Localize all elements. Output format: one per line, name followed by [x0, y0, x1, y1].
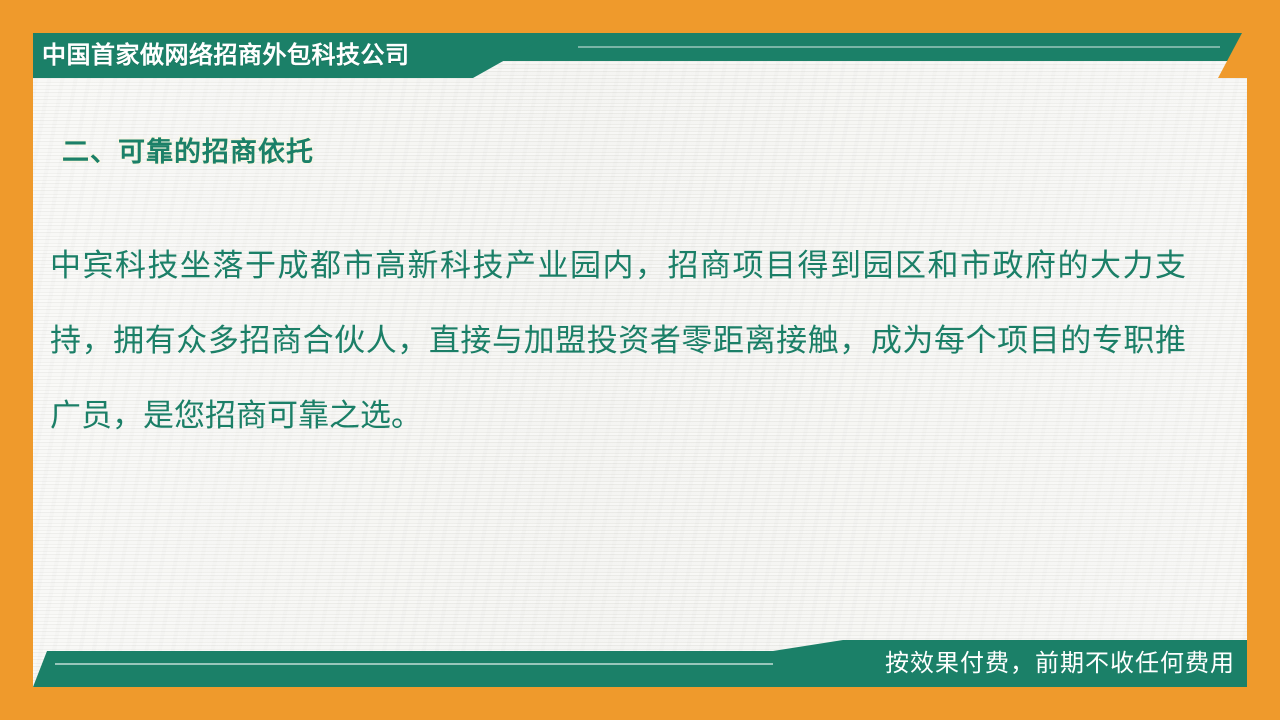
footer-divider-line — [55, 663, 785, 665]
footer-slogan-plate: 按效果付费，前期不收任何费用 — [773, 640, 1247, 687]
header-title-plate: 中国首家做网络招商外包科技公司 — [33, 33, 553, 78]
footer-band: 按效果付费，前期不收任何费用 — [33, 640, 1247, 687]
presentation-slide: 中国首家做网络招商外包科技公司 二、可靠的招商依托 中宾科技坐落于成都市高新科技… — [0, 0, 1280, 720]
header-band: 中国首家做网络招商外包科技公司 — [33, 33, 1247, 78]
body-paragraph: 中宾科技坐落于成都市高新科技产业园内，招商项目得到园区和市政府的大力支持，拥有众… — [50, 228, 1186, 453]
footer-ribbon-left — [33, 651, 813, 687]
section-heading: 二、可靠的招商依托 — [62, 136, 314, 168]
header-divider-line — [578, 46, 1220, 48]
footer-slogan: 按效果付费，前期不收任何费用 — [885, 652, 1235, 676]
company-tagline: 中国首家做网络招商外包科技公司 — [42, 44, 410, 68]
